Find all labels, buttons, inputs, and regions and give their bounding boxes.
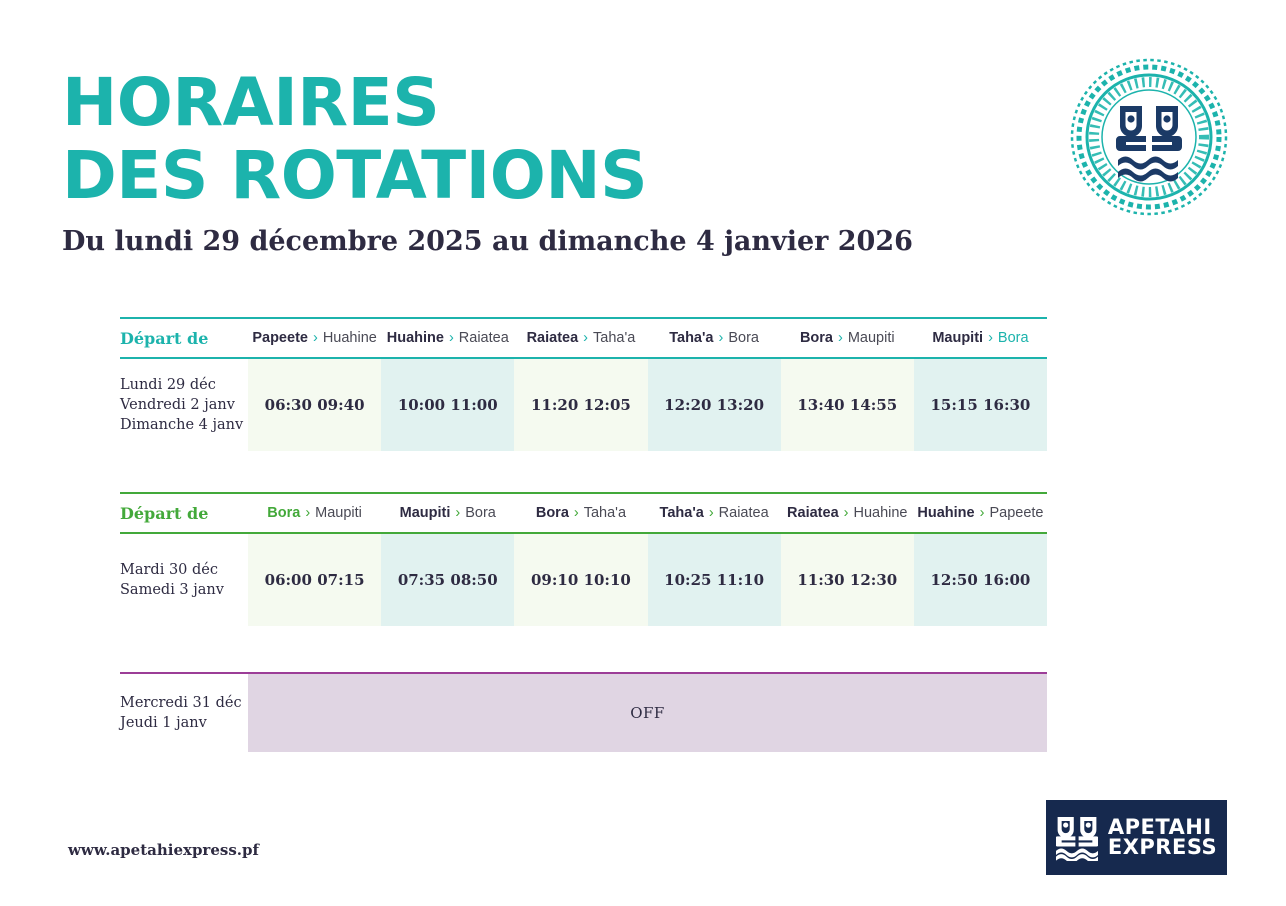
chevron-right-icon: ›: [569, 505, 584, 521]
route-destination: Raiatea: [459, 330, 509, 346]
apetahi-tiki-mark-icon: [1056, 815, 1098, 861]
time-cell: 10:00 11:00: [381, 359, 514, 451]
arrival-time: 11:00: [450, 396, 497, 414]
time-cell: 11:20 12:05: [514, 359, 647, 451]
arrival-time: 09:40: [317, 396, 364, 414]
table-header-row: Départ de Papeete›Huahine Huahine›Raiate…: [120, 319, 1047, 357]
route-header: Bora›Maupiti: [248, 505, 381, 521]
schedule-table-off: Mercredi 31 déc Jeudi 1 janv OFF: [120, 672, 1047, 752]
route-header: Bora›Taha'a: [514, 505, 647, 521]
brand-wordmark: APETAHI EXPRESS: [1108, 818, 1217, 857]
day-label: Mercredi 31 déc: [120, 693, 242, 713]
route-destination: Bora: [998, 330, 1029, 346]
apetahi-tiki-emblem-icon: [1070, 58, 1228, 216]
route-origin: Raiatea: [527, 330, 579, 346]
departure-time: 12:20: [664, 396, 711, 414]
brand-logo: APETAHI EXPRESS: [1046, 800, 1227, 875]
route-origin: Raiatea: [787, 505, 839, 521]
route-destination: Taha'a: [593, 330, 635, 346]
route-header: Maupiti›Bora: [381, 505, 514, 521]
departure-time: 15:15: [931, 396, 978, 414]
time-cell: 12:50 16:00: [914, 534, 1047, 626]
arrival-time: 08:50: [450, 571, 497, 589]
chevron-right-icon: ›: [714, 330, 729, 346]
time-cell-group: 06:00 07:15 07:35 08:50 09:10 10:10 10:2…: [248, 534, 1047, 626]
time-cell: 10:25 11:10: [648, 534, 781, 626]
route-header: Papeete›Huahine: [248, 330, 381, 346]
route-origin: Taha'a: [660, 505, 704, 521]
chevron-right-icon: ›: [308, 330, 323, 346]
day-label: Samedi 3 janv: [120, 580, 242, 600]
arrival-time: 12:30: [850, 571, 897, 589]
route-origin: Maupiti: [932, 330, 983, 346]
day-list: Mercredi 31 déc Jeudi 1 janv: [120, 674, 248, 752]
chevron-right-icon: ›: [983, 330, 998, 346]
day-list: Lundi 29 déc Vendredi 2 janv Dimanche 4 …: [120, 359, 248, 451]
depart-label: Départ de: [120, 504, 248, 523]
day-label: Dimanche 4 janv: [120, 415, 242, 435]
route-header: Huahine›Papeete: [914, 505, 1047, 521]
route-header: Taha'a›Raiatea: [648, 505, 781, 521]
chevron-right-icon: ›: [839, 505, 854, 521]
day-list: Mardi 30 déc Samedi 3 janv: [120, 534, 248, 626]
time-cell: 12:20 13:20: [648, 359, 781, 451]
time-cell: 06:00 07:15: [248, 534, 381, 626]
route-origin: Taha'a: [669, 330, 713, 346]
route-destination: Huahine: [323, 330, 377, 346]
time-cell: 11:30 12:30: [781, 534, 914, 626]
route-header: Maupiti›Bora: [914, 330, 1047, 346]
time-cell: 15:15 16:30: [914, 359, 1047, 451]
title-line-2: DES ROTATIONS: [62, 139, 913, 212]
departure-time: 09:10: [531, 571, 578, 589]
route-destination: Papeete: [989, 505, 1043, 521]
arrival-time: 12:05: [584, 396, 631, 414]
departure-time: 12:50: [931, 571, 978, 589]
schedule-table-outbound: Départ de Papeete›Huahine Huahine›Raiate…: [120, 317, 1047, 451]
departure-time: 06:00: [265, 571, 312, 589]
arrival-time: 10:10: [584, 571, 631, 589]
arrival-time: 13:20: [717, 396, 764, 414]
table-row-off: Mercredi 31 déc Jeudi 1 janv OFF: [120, 674, 1047, 752]
chevron-right-icon: ›: [578, 330, 593, 346]
route-destination: Maupiti: [315, 505, 362, 521]
time-cell: 09:10 10:10: [514, 534, 647, 626]
route-origin: Bora: [536, 505, 569, 521]
route-origin: Maupiti: [400, 505, 451, 521]
chevron-right-icon: ›: [704, 505, 719, 521]
arrival-time: 11:10: [717, 571, 764, 589]
arrival-time: 16:30: [983, 396, 1030, 414]
chevron-right-icon: ›: [450, 505, 465, 521]
status-badge: OFF: [248, 674, 1047, 752]
depart-label: Départ de: [120, 329, 248, 348]
day-label: Mardi 30 déc: [120, 560, 242, 580]
departure-time: 07:35: [398, 571, 445, 589]
route-destination: Bora: [465, 505, 496, 521]
departure-time: 10:00: [398, 396, 445, 414]
departure-time: 13:40: [797, 396, 844, 414]
route-header: Huahine›Raiatea: [381, 330, 514, 346]
route-origin: Huahine: [387, 330, 444, 346]
day-label: Vendredi 2 janv: [120, 395, 242, 415]
departure-time: 10:25: [664, 571, 711, 589]
chevron-right-icon: ›: [833, 330, 848, 346]
route-destination: Bora: [728, 330, 759, 346]
title-line-1: HORAIRES: [62, 66, 913, 139]
departure-time: 06:30: [265, 396, 312, 414]
route-origin: Huahine: [917, 505, 974, 521]
route-destination: Maupiti: [848, 330, 895, 346]
chevron-right-icon: ›: [975, 505, 990, 521]
arrival-time: 16:00: [983, 571, 1030, 589]
route-destination: Raiatea: [719, 505, 769, 521]
route-destination: Huahine: [853, 505, 907, 521]
route-header-group: Papeete›Huahine Huahine›Raiatea Raiatea›…: [248, 330, 1047, 346]
route-origin: Bora: [800, 330, 833, 346]
chevron-right-icon: ›: [444, 330, 459, 346]
day-label: Lundi 29 déc: [120, 375, 242, 395]
date-range-subtitle: Du lundi 29 décembre 2025 au dimanche 4 …: [62, 226, 913, 258]
time-cell: 06:30 09:40: [248, 359, 381, 451]
route-header: Taha'a›Bora: [648, 330, 781, 346]
route-header: Bora›Maupiti: [781, 330, 914, 346]
chevron-right-icon: ›: [300, 505, 315, 521]
website-url: www.apetahiexpress.pf: [68, 841, 259, 859]
route-origin: Bora: [267, 505, 300, 521]
route-origin: Papeete: [252, 330, 308, 346]
departure-time: 11:30: [797, 571, 844, 589]
departure-time: 11:20: [531, 396, 578, 414]
time-cell-group: 06:30 09:40 10:00 11:00 11:20 12:05 12:2…: [248, 359, 1047, 451]
route-header-group: Bora›Maupiti Maupiti›Bora Bora›Taha'a Ta…: [248, 505, 1047, 521]
page-title: HORAIRES DES ROTATIONS Du lundi 29 décem…: [62, 66, 913, 258]
time-cell: 13:40 14:55: [781, 359, 914, 451]
route-header: Raiatea›Huahine: [781, 505, 914, 521]
brand-line-2: EXPRESS: [1108, 838, 1217, 858]
schedule-table-return: Départ de Bora›Maupiti Maupiti›Bora Bora…: [120, 492, 1047, 626]
arrival-time: 07:15: [317, 571, 364, 589]
route-destination: Taha'a: [584, 505, 626, 521]
day-label: Jeudi 1 janv: [120, 713, 242, 733]
schedule-poster: HORAIRES DES ROTATIONS Du lundi 29 décem…: [0, 0, 1286, 906]
table-row: Lundi 29 déc Vendredi 2 janv Dimanche 4 …: [120, 359, 1047, 451]
arrival-time: 14:55: [850, 396, 897, 414]
table-row: Mardi 30 déc Samedi 3 janv 06:00 07:15 0…: [120, 534, 1047, 626]
time-cell: 07:35 08:50: [381, 534, 514, 626]
route-header: Raiatea›Taha'a: [514, 330, 647, 346]
table-header-row: Départ de Bora›Maupiti Maupiti›Bora Bora…: [120, 494, 1047, 532]
